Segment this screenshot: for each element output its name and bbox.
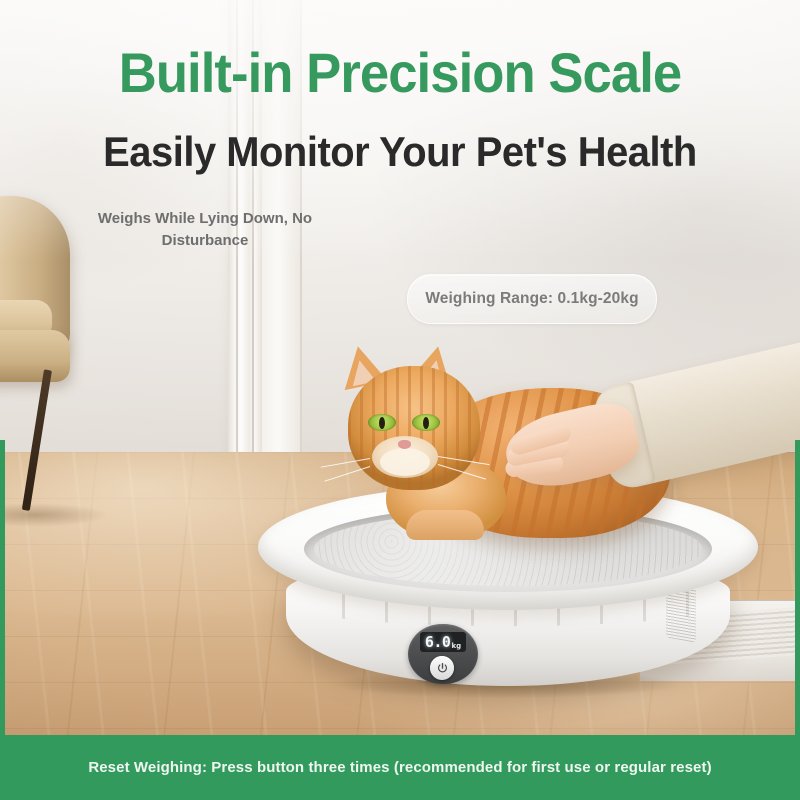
banner-text: Reset Weighing: Press button three times… <box>50 757 750 779</box>
chair-shadow <box>0 498 140 532</box>
weighing-range-badge: Weighing Range: 0.1kg-20kg <box>407 274 657 324</box>
cat-nose <box>398 440 411 449</box>
cat-pupil-left <box>379 417 385 429</box>
page-title: Built-in Precision Scale <box>24 44 776 102</box>
cat-eye-left <box>368 414 396 431</box>
cat-muzzle-highlight <box>380 448 430 476</box>
bottom-banner: Reset Weighing: Press button three times… <box>0 735 800 800</box>
weight-unit: kg <box>451 643 461 652</box>
cat-eye-right <box>412 414 440 431</box>
photo-scene: 6.0 kg <box>0 0 800 800</box>
power-button[interactable] <box>430 656 454 680</box>
weighing-range-label: Weighing Range: 0.1kg-20kg <box>425 290 638 308</box>
cat-pupil-right <box>423 417 429 429</box>
lcd-screen: 6.0 kg <box>420 632 466 652</box>
scale-display-panel: 6.0 kg <box>408 624 478 684</box>
cat-whisker <box>324 466 370 482</box>
feature-caption: Weighs While Lying Down, No Disturbance <box>60 208 350 252</box>
weight-value: 6.0 <box>425 635 451 650</box>
power-icon <box>436 662 449 675</box>
chair-seat <box>0 330 70 382</box>
cat-paw <box>406 510 484 540</box>
page-subtitle: Easily Monitor Your Pet's Health <box>20 130 780 174</box>
left-green-edge <box>0 440 5 740</box>
product-promo-image: 6.0 kg Built-in Precision Scale Easily M… <box>0 0 800 800</box>
right-green-edge <box>795 440 800 740</box>
